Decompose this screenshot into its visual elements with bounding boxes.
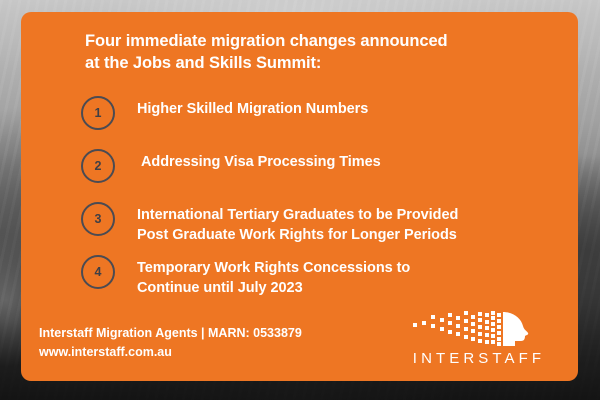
list-item-number: 1 — [95, 106, 102, 120]
list-item-text-line-2: Post Graduate Work Rights for Longer Per… — [137, 226, 458, 246]
list-item-number-badge: 4 — [81, 255, 115, 289]
footer-website-line[interactable]: www.interstaff.com.au — [39, 343, 302, 362]
list-item-number-badge: 1 — [81, 96, 115, 130]
list-item-text: International Tertiary Graduates to be P… — [137, 200, 458, 245]
list-item-text-line-1: Higher Skilled Migration Numbers — [137, 100, 368, 120]
logo-wordmark: INTERSTAFF — [395, 350, 563, 368]
list-item: 4 Temporary Work Rights Concessions to C… — [81, 253, 561, 306]
list-item-number-badge: 3 — [81, 202, 115, 236]
list-item-text-line-1: Addressing Visa Processing Times — [141, 153, 381, 173]
page-title-line-2: at the Jobs and Skills Summit: — [85, 52, 545, 74]
list-item-number: 3 — [95, 212, 102, 226]
logo: INTERSTAFF — [395, 310, 563, 372]
slide-canvas: Four immediate migration changes announc… — [0, 0, 600, 400]
list-item-text: Higher Skilled Migration Numbers — [137, 94, 368, 120]
list-item: 2 Addressing Visa Processing Times — [81, 147, 561, 200]
list-item-number-badge: 2 — [81, 149, 115, 183]
list-item: 3 International Tertiary Graduates to be… — [81, 200, 561, 253]
list-item-number: 2 — [95, 159, 102, 173]
numbered-list: 1 Higher Skilled Migration Numbers 2 Add… — [81, 94, 561, 306]
list-item-text: Temporary Work Rights Concessions to Con… — [137, 253, 410, 298]
list-item-text-line-2: Continue until July 2023 — [137, 279, 410, 299]
orange-content-card: Four immediate migration changes announc… — [21, 12, 578, 381]
page-title-line-1: Four immediate migration changes announc… — [85, 30, 545, 52]
list-item-text-line-1: International Tertiary Graduates to be P… — [137, 206, 458, 226]
page-title: Four immediate migration changes announc… — [85, 30, 545, 74]
list-item-number: 4 — [95, 265, 102, 279]
list-item-text-line-1: Temporary Work Rights Concessions to — [137, 259, 410, 279]
footer-contact-info: Interstaff Migration Agents | MARN: 0533… — [39, 324, 302, 362]
pixelated-head-profile-icon — [411, 310, 535, 346]
footer-agency-line: Interstaff Migration Agents | MARN: 0533… — [39, 324, 302, 343]
list-item-text: Addressing Visa Processing Times — [141, 147, 381, 173]
list-item: 1 Higher Skilled Migration Numbers — [81, 94, 561, 147]
